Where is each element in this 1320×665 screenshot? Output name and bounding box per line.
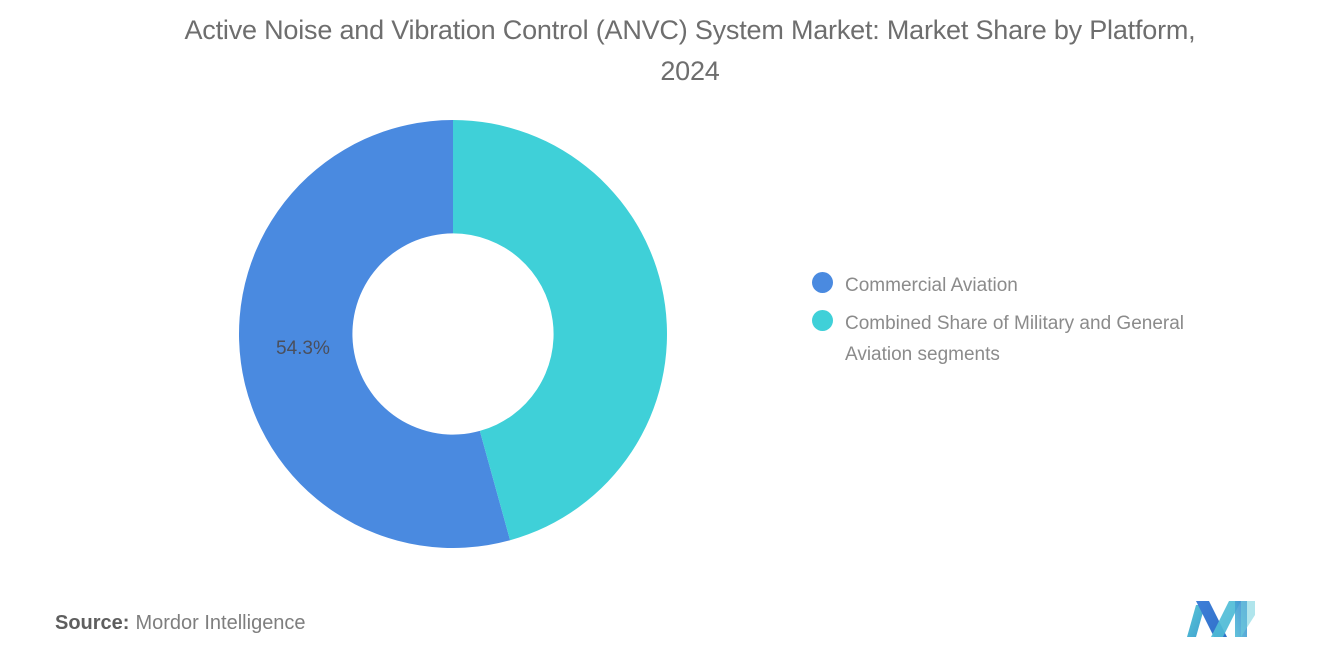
legend-item-commercial-aviation[interactable]: Commercial Aviation: [812, 270, 1262, 301]
logo-svg: [1185, 597, 1257, 641]
mordor-intelligence-logo-icon: [1185, 597, 1257, 641]
legend-item-label: Commercial Aviation: [845, 270, 1018, 301]
slice-value-label-commercial-aviation: 54.3%: [276, 338, 330, 360]
legend-item-label: Combined Share of Military and General A…: [845, 308, 1255, 370]
source-value: Mordor Intelligence: [135, 612, 305, 634]
chart-legend: Commercial Aviation Combined Share of Mi…: [812, 270, 1262, 377]
donut-slice-group: [239, 120, 667, 548]
legend-swatch-icon: [812, 272, 833, 293]
source-line: Source:Mordor Intelligence: [55, 612, 306, 635]
legend-item-military-general-aviation[interactable]: Combined Share of Military and General A…: [812, 308, 1262, 370]
source-label: Source:: [55, 612, 129, 634]
donut-chart-svg: [239, 120, 667, 548]
chart-title: Active Noise and Vibration Control (ANVC…: [160, 10, 1220, 92]
legend-swatch-icon: [812, 310, 833, 331]
donut-chart: [239, 120, 667, 548]
